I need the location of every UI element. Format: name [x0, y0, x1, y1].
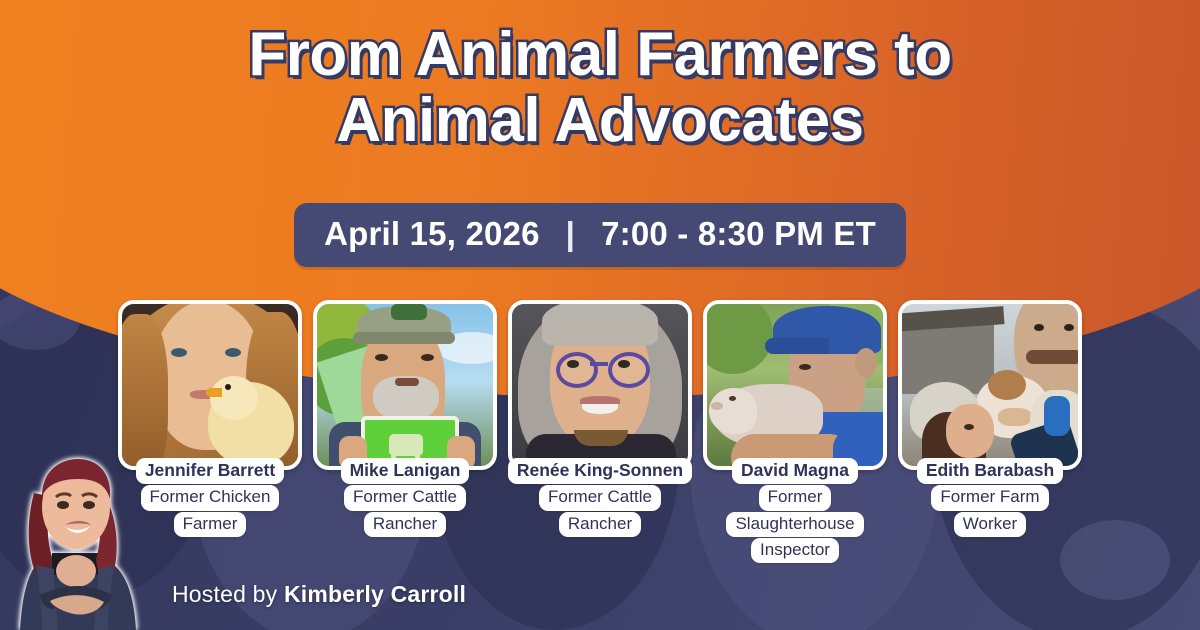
speaker-role-line: Former	[759, 485, 832, 510]
speaker-photo-mike-lanigan	[313, 300, 497, 470]
datetime-separator: |	[566, 215, 575, 253]
speaker-name: Mike Lanigan	[341, 458, 470, 484]
speaker-role-line: Worker	[954, 512, 1026, 537]
event-datetime-banner: April 15, 2026 | 7:00 - 8:30 PM ET	[294, 203, 906, 267]
hosted-by-prefix: Hosted by	[172, 581, 284, 607]
speaker-role-line: Former Cattle	[344, 485, 466, 510]
speaker-card: Edith Barabash Former Farm Worker	[896, 300, 1084, 564]
speaker-role-line: Farmer	[174, 512, 247, 537]
speaker-role-line: Rancher	[364, 512, 446, 537]
speaker-name: Renée King-Sonnen	[508, 458, 692, 484]
host-name: Kimberly Carroll	[284, 581, 466, 607]
event-date: April 15, 2026	[324, 215, 540, 253]
event-time: 7:00 - 8:30 PM ET	[601, 215, 876, 253]
speaker-name: David Magna	[732, 458, 858, 484]
page-title: From Animal Farmers to Animal Advocates	[0, 22, 1200, 153]
speaker-caption: Renée King-Sonnen Former Cattle Rancher	[508, 458, 692, 538]
speaker-name: Edith Barabash	[917, 458, 1063, 484]
speaker-photo-david-magna	[703, 300, 887, 470]
promo-graphic: From Animal Farmers to Animal Advocates …	[0, 0, 1200, 630]
speaker-card: Jennifer Barrett Former Chicken Farmer	[116, 300, 304, 564]
speaker-role-line: Inspector	[751, 538, 839, 563]
speaker-role-line: Rancher	[559, 512, 641, 537]
title-line-1: From Animal Farmers to	[0, 22, 1200, 88]
speaker-card: Renée King-Sonnen Former Cattle Rancher	[506, 300, 694, 564]
speaker-caption: Jennifer Barrett Former Chicken Farmer	[136, 458, 284, 538]
host-photo	[6, 445, 148, 630]
speaker-role-line: Slaughterhouse	[726, 512, 863, 537]
speaker-role-line: Former Farm	[931, 485, 1048, 510]
host-portrait-cutout	[6, 445, 148, 630]
speaker-role-line: Former Cattle	[539, 485, 661, 510]
speaker-card: Mike Lanigan Former Cattle Rancher	[311, 300, 499, 564]
speaker-card: David Magna Former Slaughterhouse Inspec…	[701, 300, 889, 564]
speaker-list: Jennifer Barrett Former Chicken Farmer	[0, 300, 1200, 564]
speaker-role-line: Former Chicken	[141, 485, 280, 510]
speaker-photo-renee-king-sonnen	[508, 300, 692, 470]
host-credit: Hosted by Kimberly Carroll	[172, 581, 466, 608]
speaker-caption: David Magna Former Slaughterhouse Inspec…	[726, 458, 863, 564]
speaker-caption: Edith Barabash Former Farm Worker	[917, 458, 1063, 538]
speaker-photo-edith-barabash	[898, 300, 1082, 470]
title-line-2: Animal Advocates	[0, 88, 1200, 154]
speaker-name: Jennifer Barrett	[136, 458, 284, 484]
speaker-caption: Mike Lanigan Former Cattle Rancher	[341, 458, 470, 538]
